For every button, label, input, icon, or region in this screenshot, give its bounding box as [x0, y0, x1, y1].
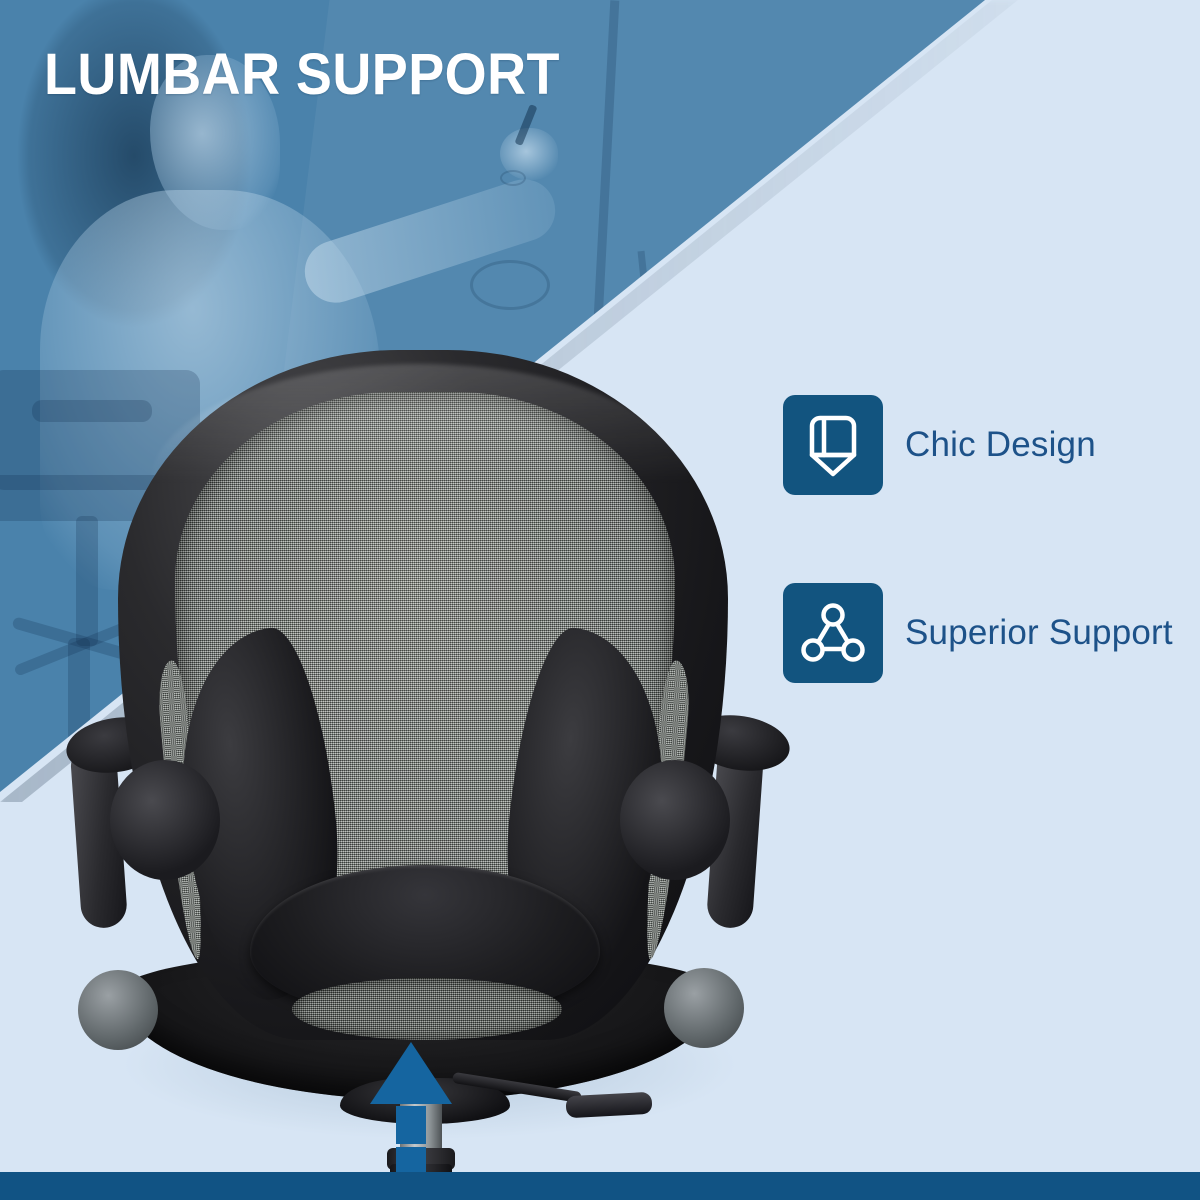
pencil-icon	[802, 412, 864, 478]
feature-icon-badge	[783, 395, 883, 495]
arrow-head	[370, 1042, 452, 1104]
arrow-shaft-segment	[396, 1147, 426, 1175]
left-adjust-knob	[78, 970, 158, 1050]
footer-accent-bar	[0, 1172, 1200, 1200]
feature-chic-design: Chic Design	[783, 395, 1096, 495]
triangle-nodes-icon	[800, 601, 866, 665]
feature-icon-badge	[783, 583, 883, 683]
page-title: LUMBAR SUPPORT	[44, 46, 560, 104]
feature-label: Chic Design	[905, 425, 1096, 465]
feature-label: Superior Support	[905, 613, 1173, 653]
left-pivot-hub	[110, 760, 220, 880]
lumbar-mesh-strip	[292, 978, 562, 1040]
promo-banner: LUMBAR SUPPORT	[0, 0, 1200, 1200]
feature-superior-support: Superior Support	[783, 583, 1173, 683]
up-arrow-icon	[370, 1042, 452, 1182]
right-pivot-hub	[620, 760, 730, 880]
arrow-shaft-segment	[396, 1106, 426, 1144]
product-photo-chair	[0, 330, 820, 1200]
height-adjustment-lever-grip	[565, 1092, 652, 1118]
backrest-highlight	[150, 364, 690, 484]
right-adjust-knob	[664, 968, 744, 1048]
